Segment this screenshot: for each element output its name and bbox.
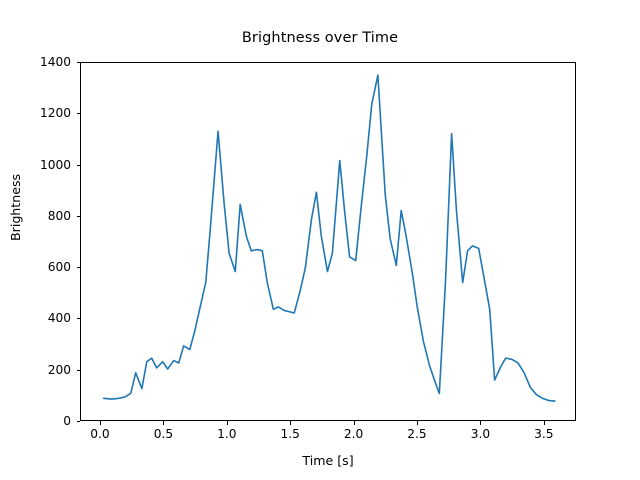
x-tick-label: 3.5 — [534, 427, 553, 441]
y-tick-label: 800 — [48, 209, 71, 223]
y-tick-label: 1200 — [40, 106, 71, 120]
y-tick-label: 400 — [48, 311, 71, 325]
matplotlib-figure: Brightness over Time Brightness Time [s]… — [0, 0, 640, 480]
y-tick-label: 200 — [48, 363, 71, 377]
data-canvas — [81, 63, 577, 422]
y-tick-label: 600 — [48, 260, 71, 274]
x-axis-label: Time [s] — [80, 453, 576, 468]
x-tick-label: 0.5 — [154, 427, 173, 441]
x-tick-label: 3.0 — [471, 427, 490, 441]
x-tick-label: 1.0 — [217, 427, 236, 441]
y-axis-label: Brightness — [8, 174, 23, 241]
y-tick-label: 1400 — [40, 55, 71, 69]
x-tick-label: 2.5 — [407, 427, 426, 441]
x-tick-label: 1.5 — [280, 427, 299, 441]
chart-title: Brightness over Time — [0, 30, 640, 46]
plot-area — [80, 62, 576, 421]
y-tick-mark — [77, 421, 81, 422]
x-tick-label: 0.0 — [90, 427, 109, 441]
brightness-line — [104, 75, 555, 401]
y-tick-label: 1000 — [40, 158, 71, 172]
y-tick-label: 0 — [63, 414, 71, 428]
x-tick-label: 2.0 — [344, 427, 363, 441]
